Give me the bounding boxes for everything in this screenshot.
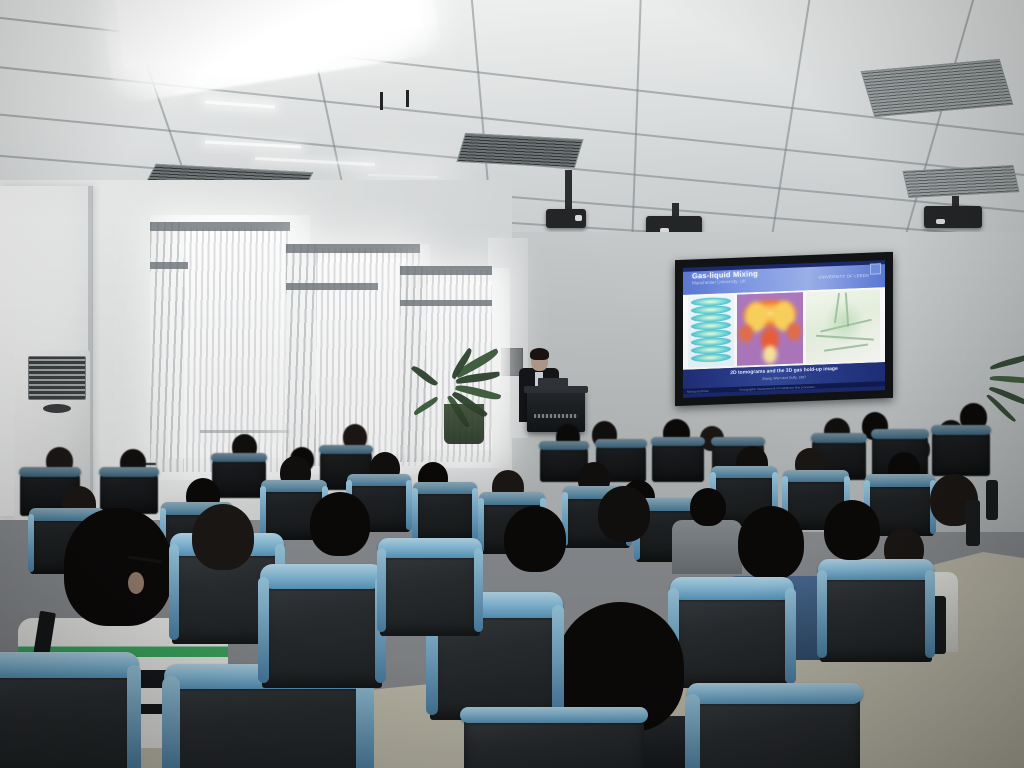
- attendee-head: [824, 500, 880, 560]
- attendee-head: [310, 492, 370, 556]
- auditorium-seat: [820, 566, 932, 662]
- potted-palm-right: [986, 358, 1024, 448]
- curtain-right-outer: [400, 266, 426, 462]
- laptop-on-lectern: [538, 378, 568, 389]
- lectern: [527, 390, 585, 432]
- three-d-render: [806, 289, 880, 363]
- auditorium-seat: [212, 456, 266, 498]
- seat-armrest: [986, 480, 998, 520]
- auditorium-seat: [652, 440, 704, 482]
- curtain-valance: [286, 244, 420, 253]
- slide-footer-bar: Mixing and Flow Tomographic measurement …: [683, 381, 885, 394]
- attendee-head: [598, 486, 650, 542]
- attendee-head: [504, 506, 566, 572]
- potted-palm-left: [430, 352, 520, 444]
- curtain-tieback: [150, 262, 188, 269]
- eyeglasses: [142, 463, 156, 465]
- air-conditioner-louvers: [28, 356, 86, 400]
- air-conditioner-badge: [43, 404, 71, 413]
- projection-screen[interactable]: Gas-liquid Mixing Manchester University,…: [675, 252, 893, 406]
- ceiling-hanging-rod: [380, 92, 383, 110]
- ceiling-hanging-rod: [406, 90, 409, 107]
- auditorium-seat: [932, 428, 990, 476]
- curtain-tieback: [400, 300, 492, 306]
- slide-body: [683, 287, 885, 370]
- auditorium-seat: [0, 660, 136, 768]
- hvac-ceiling-vent: [861, 59, 1014, 117]
- gas-holdup-heatmap: [737, 292, 803, 366]
- curtain-valance: [400, 266, 492, 275]
- slide-footer-right: Tomographic measurement of multiphase fl…: [739, 384, 815, 391]
- ear: [128, 572, 144, 594]
- seat-armrest: [966, 500, 980, 546]
- auditorium-seat: [690, 690, 860, 768]
- lectern-control-panel: [534, 414, 578, 418]
- auditorium-seat: [100, 470, 158, 514]
- slide-footer-left: Mixing and Flow: [687, 388, 709, 393]
- auditorium-seat: [464, 712, 644, 768]
- auditorium-seat: [380, 544, 480, 636]
- auditorium-seat: [262, 572, 382, 688]
- stacked-tomogram-slices: [688, 295, 734, 368]
- curtain-tieback: [286, 283, 378, 290]
- auditorium-seat: [414, 486, 476, 542]
- lecture-hall-photo: Gas-liquid Mixing Manchester University,…: [0, 0, 1024, 768]
- attendee-head: [192, 504, 254, 570]
- curtain-center-outer: [286, 244, 316, 466]
- curtain-left-outer: [150, 222, 184, 472]
- university-logo-icon: [870, 263, 881, 274]
- hvac-ceiling-vent: [456, 133, 583, 168]
- auditorium-seat: [672, 584, 792, 688]
- hvac-ceiling-vent: [903, 165, 1020, 198]
- curtain-valance: [150, 222, 290, 231]
- slide-display: Gas-liquid Mixing Manchester University,…: [683, 260, 885, 398]
